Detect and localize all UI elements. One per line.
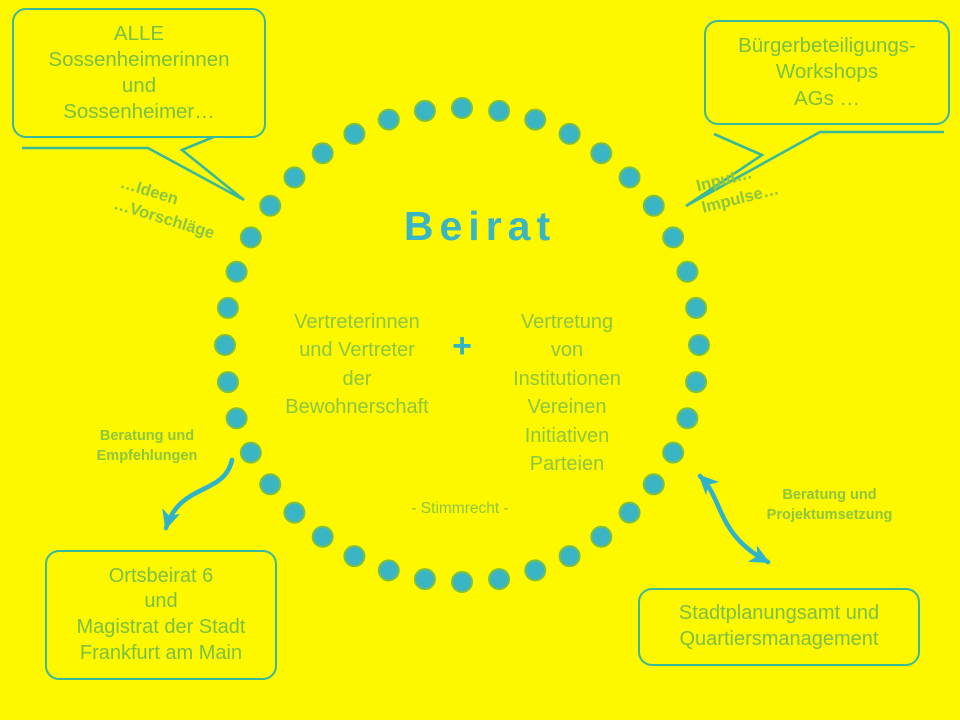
ring-dot bbox=[525, 110, 545, 130]
column-left-line: der bbox=[268, 365, 446, 393]
ring-dot bbox=[313, 143, 333, 163]
column-right-line: Institutionen bbox=[478, 365, 656, 393]
bubble-citizens-line: Sossenheimerinnen bbox=[48, 47, 229, 73]
column-right-line: Initiativen bbox=[478, 422, 656, 450]
ring-dot bbox=[415, 101, 435, 121]
footnote-stimmrecht: - Stimmrecht - bbox=[330, 500, 590, 518]
ring-dot bbox=[452, 572, 472, 592]
bubble-workshops-line: AGs … bbox=[794, 86, 860, 112]
ring-dot bbox=[284, 503, 304, 523]
caption-beratung-right-line: Beratung und bbox=[742, 486, 917, 506]
box-stadtplanung-line: Stadtplanungsamt und bbox=[679, 601, 879, 627]
box-ortsbeirat-line: Ortsbeirat 6 bbox=[109, 564, 213, 590]
ring-dot bbox=[379, 560, 399, 580]
bubble-citizens-line: und bbox=[122, 73, 156, 99]
column-left-line: Bewohnerschaft bbox=[268, 393, 446, 421]
ring-dot bbox=[227, 408, 247, 428]
ring-dot bbox=[344, 124, 364, 144]
ring-dot bbox=[689, 335, 709, 355]
caption-beratung-left-line: Empfehlungen bbox=[72, 447, 222, 467]
ring-dot bbox=[686, 298, 706, 318]
ring-dot bbox=[620, 167, 640, 187]
ring-dot bbox=[525, 560, 545, 580]
column-left-line: und Vertreter bbox=[268, 336, 446, 364]
ring-dot bbox=[313, 527, 333, 547]
ring-dot bbox=[379, 110, 399, 130]
column-right-line: Vertretung bbox=[478, 308, 656, 336]
box-ortsbeirat[interactable]: Ortsbeirat 6 und Magistrat der Stadt Fra… bbox=[45, 550, 277, 680]
ring-dot bbox=[591, 143, 611, 163]
column-bewohnerschaft: Vertreterinnen und Vertreter der Bewohne… bbox=[268, 308, 446, 422]
ring-dot bbox=[452, 98, 472, 118]
ring-dot bbox=[677, 262, 697, 282]
box-ortsbeirat-line: Frankfurt am Main bbox=[80, 641, 242, 667]
ring-dot bbox=[227, 262, 247, 282]
ring-dot bbox=[489, 101, 509, 121]
ring-dot bbox=[489, 569, 509, 589]
column-left-line: Vertreterinnen bbox=[268, 308, 446, 336]
caption-beratung-projektumsetzung: Beratung und Projektumsetzung bbox=[742, 486, 917, 525]
ring-dot bbox=[215, 335, 235, 355]
ring-dot bbox=[260, 474, 280, 494]
bubble-citizens-line: Sossenheimer… bbox=[63, 99, 215, 125]
bubble-workshops-line: Bürgerbeteiligungs- bbox=[738, 33, 916, 59]
column-institutionen: Vertretung von Institutionen Vereinen In… bbox=[478, 308, 656, 478]
caption-beratung-empfehlungen: Beratung und Empfehlungen bbox=[72, 427, 222, 466]
ring-dot bbox=[560, 124, 580, 144]
box-ortsbeirat-line: und bbox=[144, 589, 177, 615]
box-ortsbeirat-line: Magistrat der Stadt bbox=[77, 615, 246, 641]
ring-dot bbox=[218, 298, 238, 318]
bubble-workshops-line: Workshops bbox=[776, 59, 878, 85]
caption-beratung-right-line: Projektumsetzung bbox=[742, 506, 917, 526]
ring-dot bbox=[415, 569, 435, 589]
ring-dot bbox=[284, 167, 304, 187]
box-stadtplanung[interactable]: Stadtplanungsamt und Quartiersmanagement bbox=[638, 588, 920, 666]
ring-dot bbox=[677, 408, 697, 428]
caption-beratung-left-line: Beratung und bbox=[72, 427, 222, 447]
ring-dot bbox=[686, 372, 706, 392]
ring-dot bbox=[620, 503, 640, 523]
column-right-line: Vereinen bbox=[478, 393, 656, 421]
column-right-line: Parteien bbox=[478, 450, 656, 478]
ring-dot bbox=[663, 443, 683, 463]
ring-dot bbox=[344, 546, 364, 566]
arrow-to-ortsbeirat-icon bbox=[166, 460, 232, 528]
box-stadtplanung-line: Quartiersmanagement bbox=[680, 627, 879, 653]
column-right-line: von bbox=[478, 336, 656, 364]
diagram-canvas: ALLE Sossenheimerinnen und Sossenheimer…… bbox=[0, 0, 960, 720]
bubble-citizens-line: ALLE bbox=[114, 21, 164, 47]
ring-dot bbox=[241, 443, 261, 463]
bubble-citizens[interactable]: ALLE Sossenheimerinnen und Sossenheimer… bbox=[12, 8, 266, 138]
page-title: Beirat bbox=[0, 203, 960, 250]
bubble-workshops[interactable]: Bürgerbeteiligungs- Workshops AGs … bbox=[704, 20, 950, 125]
ring-dot bbox=[560, 546, 580, 566]
ring-dot bbox=[591, 527, 611, 547]
ring-dot bbox=[218, 372, 238, 392]
